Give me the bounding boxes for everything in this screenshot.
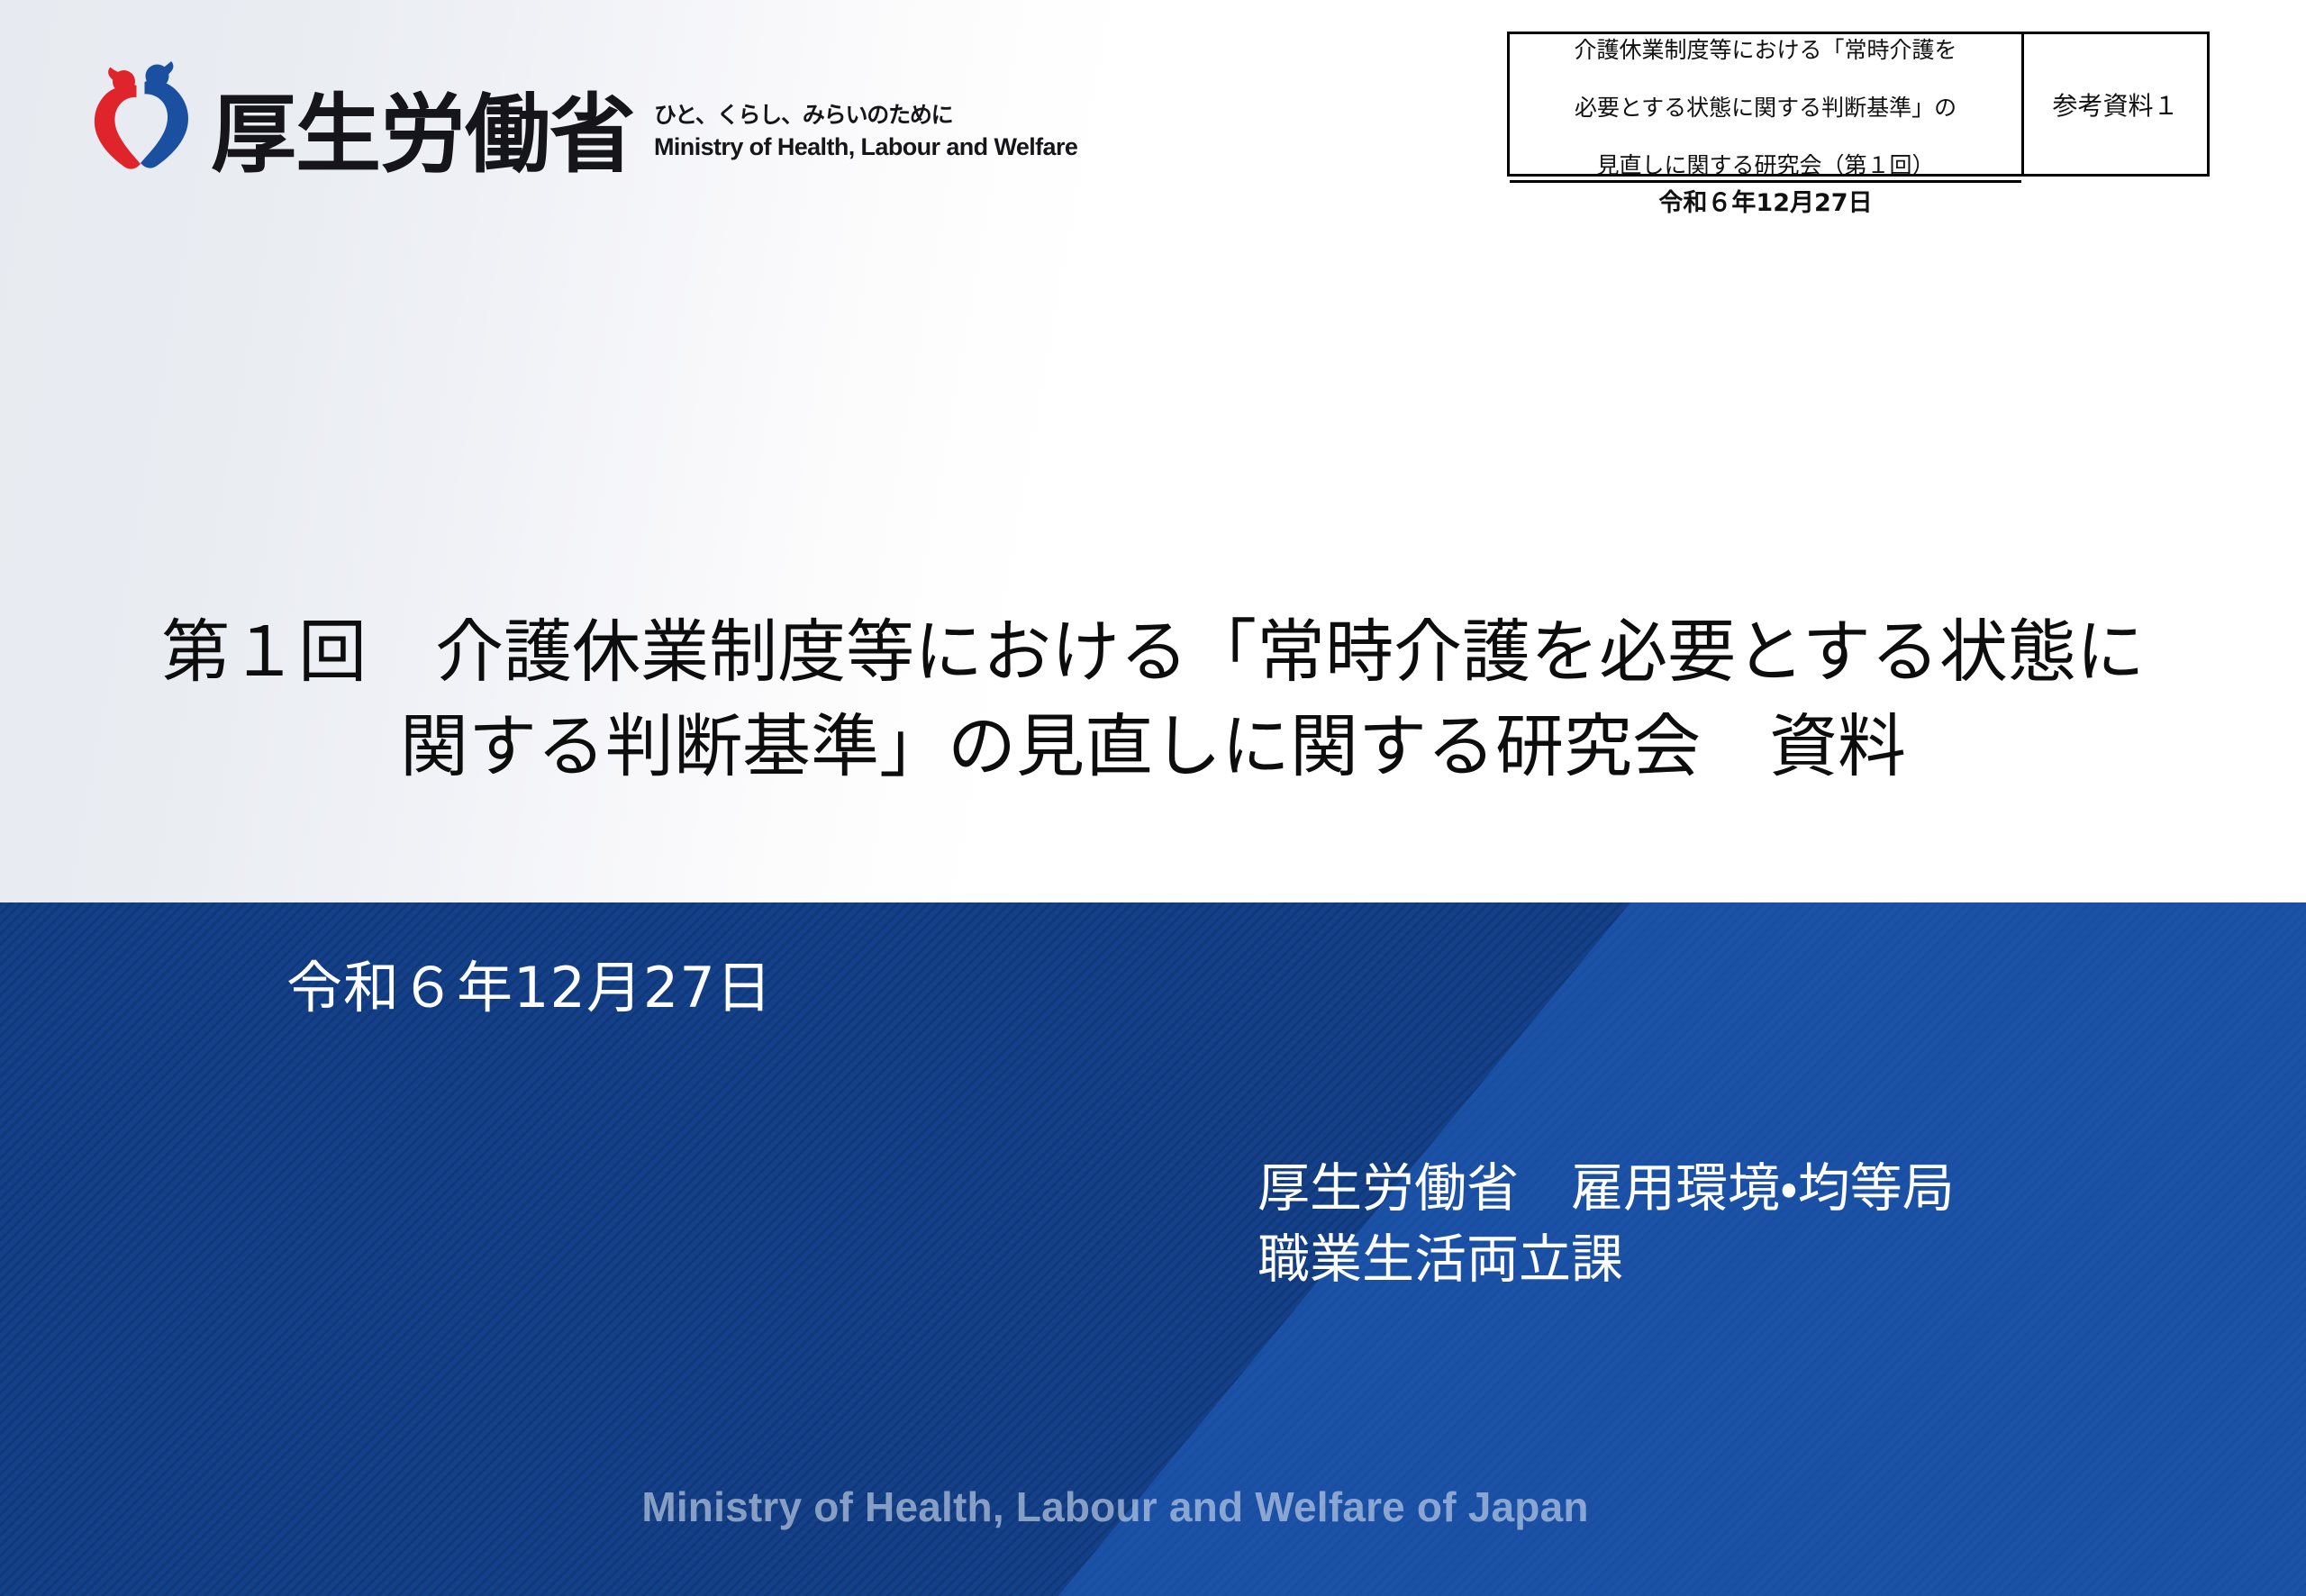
document-number-cell: 参考資料１ [2024,34,2207,174]
meeting-date-text: 令和６年12月27日 [1658,183,1872,218]
slide-root: 厚生労働省 ひと、くらし、みらいのために Ministry of Health,… [0,0,2306,1596]
mhlw-logo: 厚生労働省 ひと、くらし、みらいのために Ministry of Health,… [83,56,1077,173]
organization-line-2: 職業生活両立課 [1257,1224,1955,1295]
page-title: 第１回 介護休業制度等における「常時介護を必要とする状態に 関する判断基準」の見… [0,605,2306,794]
mhlw-heart-logo-icon [83,56,198,173]
meeting-title-text: 介護休業制度等における「常時介護を必要とする状態に関する判断基準」の見直しに関す… [1574,36,1956,180]
page-title-line2: 関する判断基準」の見直しに関する研究会 資料 [0,700,2306,794]
organization-line-1: 厚生労働省 雇用環境・均等局 [1257,1153,1955,1224]
meeting-title-cell: 介護休業制度等における「常時介護を必要とする状態に関する判断基準」の見直しに関す… [1510,34,2021,183]
header-table-left-column: 介護休業制度等における「常時介護を必要とする状態に関する判断基準」の見直しに関す… [1510,34,2024,174]
document-header-table: 介護休業制度等における「常時介護を必要とする状態に関する判断基準」の見直しに関す… [1507,32,2210,177]
logo-name-ja: 厚生労働省 [211,93,634,178]
logo-tagline-group: ひと、くらし、みらいのために Ministry of Health, Labou… [654,97,1077,173]
ministry-english-name: Ministry of Health, Labour and Welfare o… [0,1483,2306,1531]
meeting-date-cell: 令和６年12月27日 [1510,183,2021,218]
document-number-text: 参考資料１ [2052,86,2178,122]
logo-tagline-ja: ひと、くらし、みらいのために [654,97,1077,130]
logo-name-en: Ministry of Health, Labour and Welfare [654,133,1077,161]
organization-block: 厚生労働省 雇用環境・均等局 職業生活両立課 [1257,1153,1955,1296]
page-title-line1: 第１回 介護休業制度等における「常時介護を必要とする状態に [161,612,2145,692]
presentation-date: 令和６年12月27日 [286,942,773,1023]
